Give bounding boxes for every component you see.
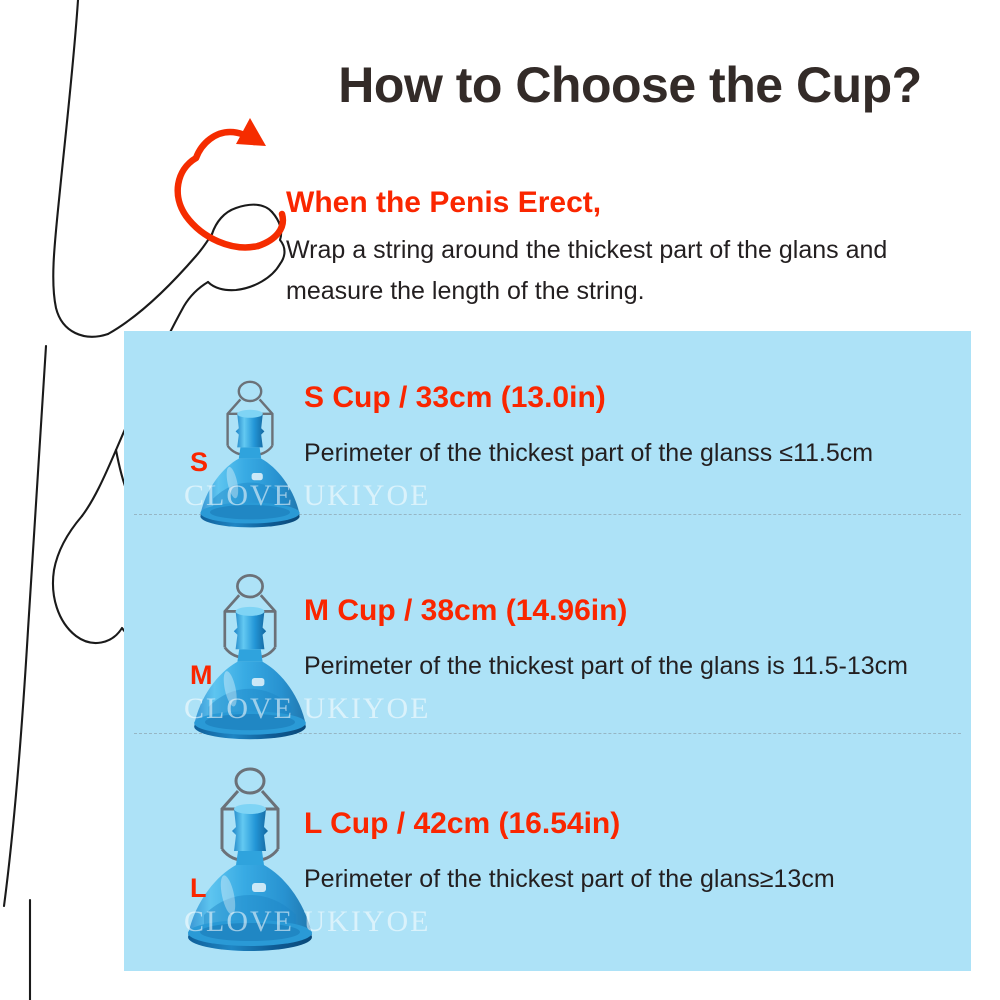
cup-size-letter: M bbox=[190, 660, 213, 691]
cup-size-title: M Cup / 38cm (14.96in) bbox=[304, 594, 627, 628]
suction-cup-icon: M bbox=[160, 552, 340, 750]
cup-size-row[interactable]: S CLOVE UKIYOE S Cup / 33cm (13.0in) Per… bbox=[124, 331, 971, 544]
cup-size-panel: S CLOVE UKIYOE S Cup / 33cm (13.0in) Per… bbox=[124, 331, 971, 971]
cup-size-description: Perimeter of the thickest part of the gl… bbox=[304, 865, 835, 894]
suction-cup-icon: L bbox=[160, 765, 340, 963]
cup-size-letter: S bbox=[190, 447, 208, 478]
instruction-text: Wrap a string around the thickest part o… bbox=[286, 230, 986, 313]
cup-size-row[interactable]: M CLOVE UKIYOE M Cup / 38cm (14.96in) Pe… bbox=[124, 544, 971, 757]
cup-size-description: Perimeter of the thickest part of the gl… bbox=[304, 439, 873, 468]
circular-arrow-icon bbox=[178, 132, 283, 247]
cup-size-description: Perimeter of the thickest part of the gl… bbox=[304, 652, 908, 681]
cup-size-row[interactable]: L CLOVE UKIYOE L Cup / 42cm (16.54in) Pe… bbox=[124, 757, 971, 970]
cup-size-title: L Cup / 42cm (16.54in) bbox=[304, 807, 620, 841]
cup-size-title: S Cup / 33cm (13.0in) bbox=[304, 381, 606, 415]
subtitle-text: When the Penis Erect, bbox=[286, 186, 601, 220]
page-title: How to Choose the Cup? bbox=[270, 58, 990, 113]
cup-size-letter: L bbox=[190, 873, 207, 904]
infographic-page: How to Choose the Cup? When the Penis Er… bbox=[0, 0, 1000, 1000]
suction-cup-icon: S bbox=[160, 339, 340, 537]
arrow-head-icon bbox=[236, 118, 266, 146]
